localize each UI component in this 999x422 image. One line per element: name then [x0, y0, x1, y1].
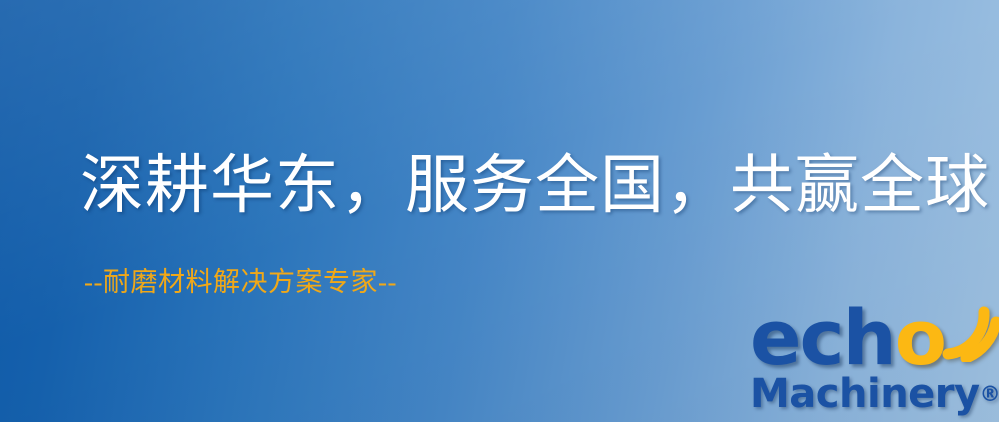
banner-subtitle: --耐磨材料解决方案专家-- — [84, 266, 397, 298]
banner-headline: 深耕华东，服务全国，共赢全球 — [80, 152, 990, 219]
logo-tagline: Machinery® — [750, 374, 999, 414]
registered-trademark-icon: ® — [980, 382, 999, 406]
company-logo[interactable]: echo Machinery® — [744, 300, 996, 422]
logo-wordmark-prefix: ech — [750, 293, 895, 382]
logo-wordmark: echo — [750, 300, 945, 376]
logo-wordmark-o: o — [895, 293, 945, 382]
signal-waves-icon — [940, 302, 999, 362]
promo-banner: 深耕华东，服务全国，共赢全球 --耐磨材料解决方案专家-- echo Machi… — [0, 0, 999, 422]
logo-tagline-text: Machinery — [750, 371, 980, 417]
